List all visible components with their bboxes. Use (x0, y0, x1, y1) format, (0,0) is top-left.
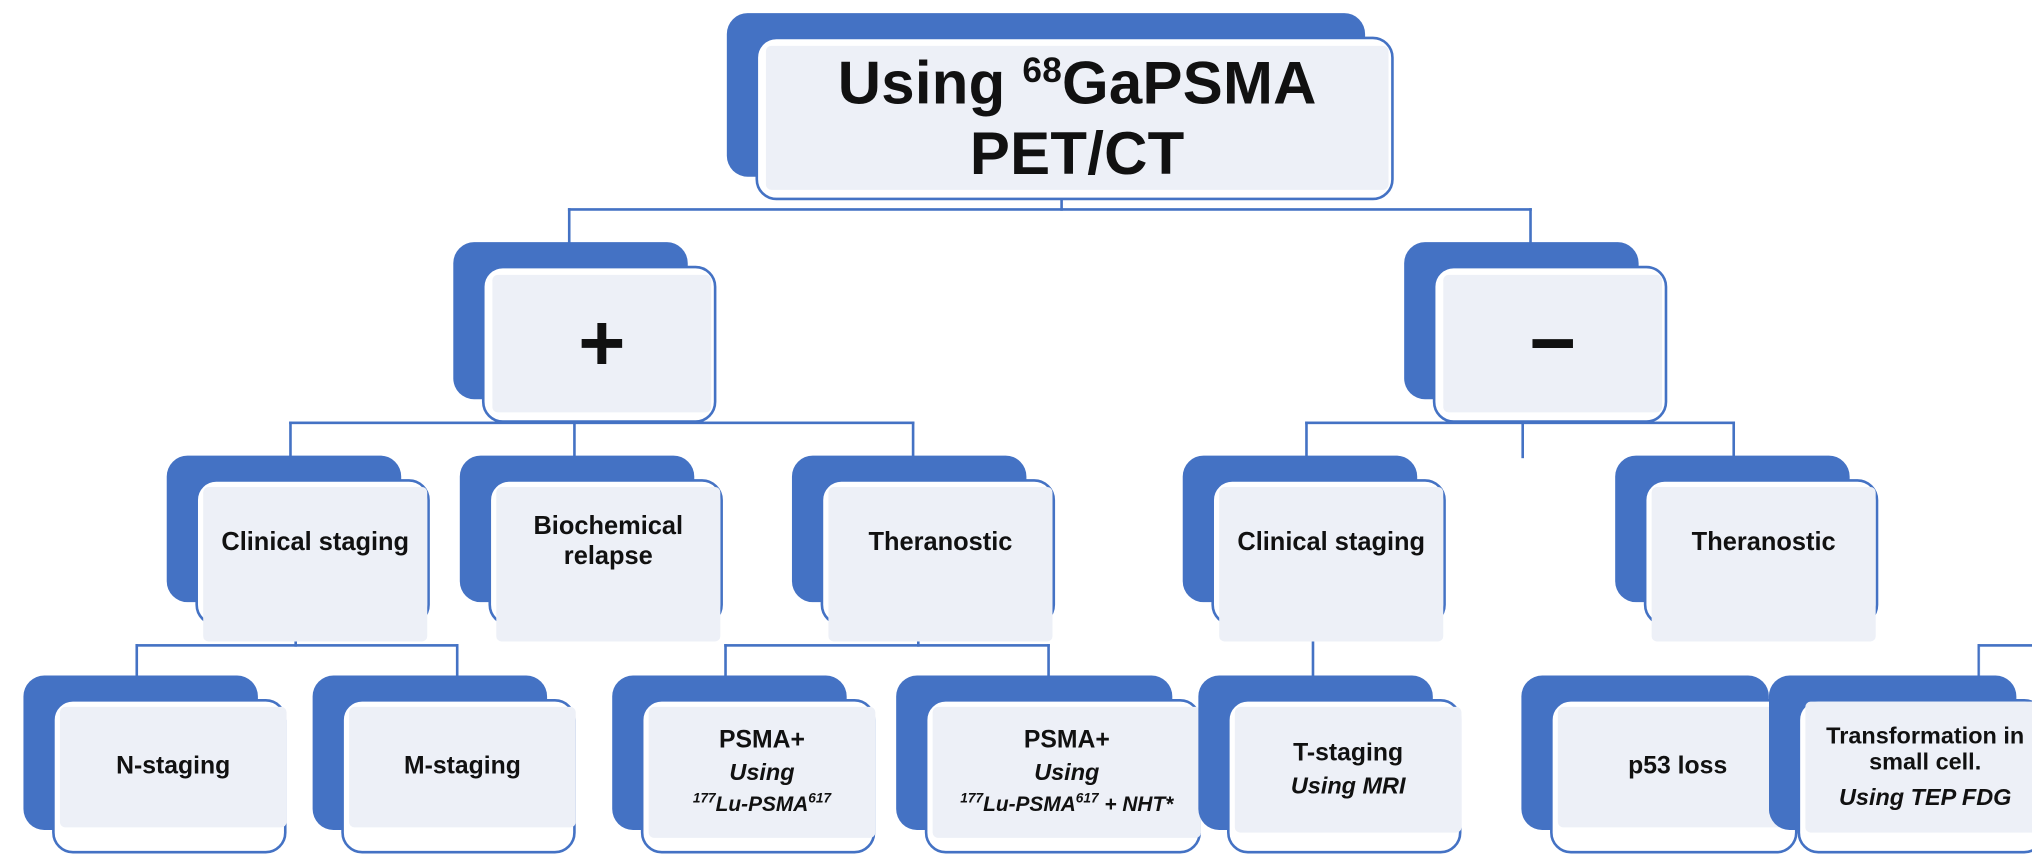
connector-positive-to-theranostic (912, 422, 915, 459)
connector-negative-to-theranostic (1521, 422, 1524, 459)
node-sublabel-agent: 177Lu-PSMA617 (693, 791, 831, 818)
connector-root-to-negative (1529, 208, 1532, 245)
agent-ligand-number: 617 (808, 791, 831, 807)
connector-pos-theranostic-bus (724, 644, 1050, 647)
node-m-staging[interactable]: M-staging (313, 675, 547, 829)
flowchart-canvas: Using 68GaPSMA PET/CT + − Clinical stagi… (0, 0, 2032, 864)
negative-sign-glyph: − (1529, 311, 1576, 376)
agent-mass-number: 177 (960, 791, 983, 807)
node-label-text: Theranostic (868, 527, 1012, 557)
agent-name: Lu-PSMA (983, 794, 1076, 816)
node-label: Clinical staging (203, 487, 427, 641)
node-sublabel-modality: Using MRI (1291, 772, 1406, 799)
node-label: T-staging Using MRI (1235, 707, 1462, 833)
agent-ligand-number: 617 (1076, 791, 1099, 807)
node-root-label: Using 68GaPSMA PET/CT (766, 46, 1389, 190)
connector-to-p53-loss (1977, 644, 1980, 678)
node-positive[interactable]: + (453, 242, 687, 399)
node-label-text: Clinical staging (1237, 527, 1425, 557)
node-sublabel-agent: 177Lu-PSMA617 + NHT* (960, 791, 1173, 818)
node-label: N-staging (60, 707, 287, 827)
node-neg-clinical-staging[interactable]: Clinical staging (1183, 456, 1417, 603)
connector-to-n-staging (135, 644, 138, 678)
node-label: Biochemical relapse (496, 487, 720, 641)
node-sublabel-modality: Using TEP FDG (1839, 784, 2011, 811)
root-label-prefix: Using (838, 48, 1023, 116)
connector-to-psma-lu177-nht (1047, 644, 1050, 678)
node-sublabel-using: Using (729, 760, 794, 787)
agent-mass-number: 177 (693, 791, 716, 807)
connector-pos-clinical-bus (135, 644, 458, 647)
agent-suffix: + NHT* (1099, 794, 1174, 816)
node-label: Clinical staging (1219, 487, 1443, 641)
node-negative-label: − (1443, 275, 1662, 412)
node-label: Theranostic (1652, 487, 1876, 641)
connector-to-psma-lu177 (724, 644, 727, 678)
connector-positive-to-clinical-staging (289, 422, 292, 459)
connector-negative-to-theranostic-right (1732, 422, 1735, 459)
node-label: M-staging (349, 707, 576, 827)
node-label-text: Biochemical relapse (496, 512, 720, 572)
connector-negative-to-clinical-staging (1305, 422, 1308, 459)
positive-sign-glyph: + (578, 311, 625, 376)
node-label-text: Clinical staging (221, 527, 409, 557)
node-small-cell-transformation[interactable]: Transformation in small cell. Using TEP … (1769, 675, 2016, 829)
node-label-line2: small cell. (1869, 749, 1981, 775)
node-sublabel-using: Using (1034, 760, 1099, 787)
connector-to-m-staging (456, 644, 459, 678)
connector-neg-theranostic-bus (1977, 644, 2032, 647)
node-label-text: Transformation in small cell. (1826, 722, 2024, 775)
node-label: Transformation in small cell. Using TEP … (1805, 702, 2032, 833)
node-label-text: N-staging (116, 753, 230, 782)
node-label: PSMA+ Using 177Lu-PSMA617 (649, 707, 876, 838)
root-label-superscript: 68 (1022, 51, 1062, 90)
node-label-text: Theranostic (1692, 527, 1836, 557)
node-label: PSMA+ Using 177Lu-PSMA617 + NHT* (933, 707, 1201, 838)
node-label-line1: Transformation in (1826, 722, 2024, 748)
node-positive-label: + (492, 275, 711, 412)
node-n-staging[interactable]: N-staging (23, 675, 257, 829)
node-psma-lu177[interactable]: PSMA+ Using 177Lu-PSMA617 (612, 675, 846, 829)
node-label-text: PSMA+ (1024, 727, 1110, 756)
node-label-text: M-staging (404, 753, 521, 782)
node-p53-loss[interactable]: p53 loss (1521, 675, 1768, 829)
node-t-staging[interactable]: T-staging Using MRI (1198, 675, 1432, 829)
node-psma-lu177-nht[interactable]: PSMA+ Using 177Lu-PSMA617 + NHT* (896, 675, 1172, 829)
node-label: Theranostic (828, 487, 1052, 641)
connector-root-to-positive (568, 208, 571, 245)
connector-root-bus (568, 208, 1532, 211)
connector-positive-to-biochemical-relapse (573, 422, 576, 459)
node-label-text: T-staging (1293, 740, 1403, 769)
node-pos-biochemical-relapse[interactable]: Biochemical relapse (460, 456, 694, 603)
node-root[interactable]: Using 68GaPSMA PET/CT (727, 13, 1365, 177)
node-negative[interactable]: − (1404, 242, 1638, 399)
node-label-text: PSMA+ (719, 727, 805, 756)
node-pos-clinical-staging[interactable]: Clinical staging (167, 456, 401, 603)
node-pos-theranostic[interactable]: Theranostic (792, 456, 1026, 603)
node-label: p53 loss (1558, 707, 1798, 827)
node-neg-theranostic[interactable]: Theranostic (1615, 456, 1849, 603)
agent-name: Lu-PSMA (716, 794, 809, 816)
node-label-text: p53 loss (1628, 753, 1727, 782)
